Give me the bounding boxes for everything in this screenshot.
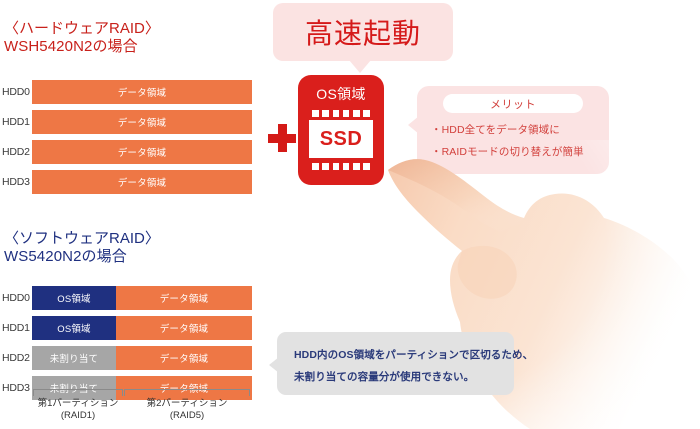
hardware-raid-heading: 〈ハードウェアRAID〉 WSH5420N2の場合	[4, 20, 160, 55]
disk-row: HDD1OS領域データ領域	[2, 316, 252, 340]
merit-callout-title-pill: メリット	[443, 94, 583, 113]
disk-row-label: HDD1	[2, 116, 32, 128]
ssd-os-area-label: OS領域	[298, 84, 384, 104]
disk-capacity-bar: データ領域	[32, 170, 252, 194]
disk-segment-unalloc: 未割り当て	[32, 376, 116, 400]
partition-caption-1-raid: (RAID1)	[33, 410, 123, 422]
plus-icon-vertical-bar	[278, 124, 287, 152]
ssd-chip-pin	[353, 163, 360, 170]
ssd-chip-label: SSD	[320, 128, 363, 151]
disk-row: HDD0データ領域	[2, 80, 252, 104]
plus-icon	[268, 124, 296, 152]
disk-capacity-bar: 未割り当てデータ領域	[32, 376, 252, 400]
disk-segment-unalloc: 未割り当て	[32, 346, 116, 370]
disk-segment-data: データ領域	[116, 376, 252, 400]
partition-caption-2-name: 第2パーティション	[124, 398, 250, 410]
disk-segment-data: データ領域	[32, 170, 252, 194]
disk-segment-data: データ領域	[32, 80, 252, 104]
partition-caption-1-name: 第1パーティション	[33, 398, 123, 410]
ssd-chip-pin	[312, 163, 319, 170]
fast-boot-callout-tail	[349, 60, 371, 73]
software-raid-heading: 〈ソフトウェアRAID〉 WS5420N2の場合	[4, 230, 160, 265]
hardware-raid-heading-line1: 〈ハードウェアRAID〉	[4, 20, 160, 38]
disk-row: HDD3未割り当てデータ領域	[2, 376, 252, 400]
disk-row-label: HDD3	[2, 176, 32, 188]
disk-row: HDD2未割り当てデータ領域	[2, 346, 252, 370]
disk-row: HDD1データ領域	[2, 110, 252, 134]
disk-capacity-bar: OS領域データ領域	[32, 316, 252, 340]
ssd-chip-pin	[312, 110, 319, 117]
disk-row-label: HDD0	[2, 292, 32, 304]
ssd-chip-pin	[343, 163, 350, 170]
ssd-chip-pin	[363, 110, 370, 117]
disk-row-label: HDD2	[2, 146, 32, 158]
note-callout-line-1: HDD内のOS領域をパーティションで区切るため、	[294, 347, 533, 362]
disk-capacity-bar: データ領域	[32, 80, 252, 104]
note-callout: HDD内のOS領域をパーティションで区切るため、 未割り当ての容量分が使用できな…	[277, 332, 514, 395]
ssd-chip-pin	[322, 163, 329, 170]
partition-bracket-2	[124, 389, 250, 396]
partition-caption-1: 第1パーティション (RAID1)	[33, 398, 123, 422]
ssd-chip-pin	[333, 110, 340, 117]
partition-bracket-1	[33, 389, 123, 396]
ssd-chip-pin	[343, 110, 350, 117]
disk-segment-data: データ領域	[116, 346, 252, 370]
partition-caption-2-raid: (RAID5)	[124, 410, 250, 422]
fast-boot-callout: 高速起動	[273, 3, 453, 61]
merit-callout-title: メリット	[490, 96, 536, 112]
note-callout-line-2: 未割り当ての容量分が使用できない。	[294, 369, 474, 384]
disk-row-label: HDD1	[2, 322, 32, 334]
ssd-chip-pin	[333, 163, 340, 170]
disk-segment-data: データ領域	[32, 110, 252, 134]
disk-segment-os: OS領域	[32, 286, 116, 310]
disk-capacity-bar: OS領域データ領域	[32, 286, 252, 310]
ssd-chip: SSD	[309, 120, 373, 158]
disk-row-label: HDD0	[2, 86, 32, 98]
disk-row: HDD3データ領域	[2, 170, 252, 194]
disk-row-label: HDD2	[2, 352, 32, 364]
ssd-chip-pins-top	[312, 110, 370, 117]
ssd-chip-pins-bottom	[312, 163, 370, 170]
ssd-chip-pin	[363, 163, 370, 170]
hardware-raid-heading-line2: WSH5420N2の場合	[4, 38, 160, 56]
disk-segment-os: OS領域	[32, 316, 116, 340]
fast-boot-callout-text: 高速起動	[305, 12, 421, 52]
software-raid-heading-line2: WS5420N2の場合	[4, 248, 160, 266]
software-raid-heading-line1: 〈ソフトウェアRAID〉	[4, 230, 160, 248]
ssd-card: OS領域 SSD	[298, 75, 384, 185]
merit-callout-bullet-1: ・HDD全てをデータ領域に	[431, 122, 560, 137]
disk-row: HDD0OS領域データ領域	[2, 286, 252, 310]
ssd-chip-pin	[322, 110, 329, 117]
disk-capacity-bar: データ領域	[32, 140, 252, 164]
disk-capacity-bar: データ領域	[32, 110, 252, 134]
disk-row: HDD2データ領域	[2, 140, 252, 164]
disk-row-label: HDD3	[2, 382, 32, 394]
disk-segment-data: データ領域	[32, 140, 252, 164]
partition-caption-2: 第2パーティション (RAID5)	[124, 398, 250, 422]
disk-segment-data: データ領域	[116, 286, 252, 310]
disk-capacity-bar: 未割り当てデータ領域	[32, 346, 252, 370]
ssd-chip-pin	[353, 110, 360, 117]
disk-segment-data: データ領域	[116, 316, 252, 340]
